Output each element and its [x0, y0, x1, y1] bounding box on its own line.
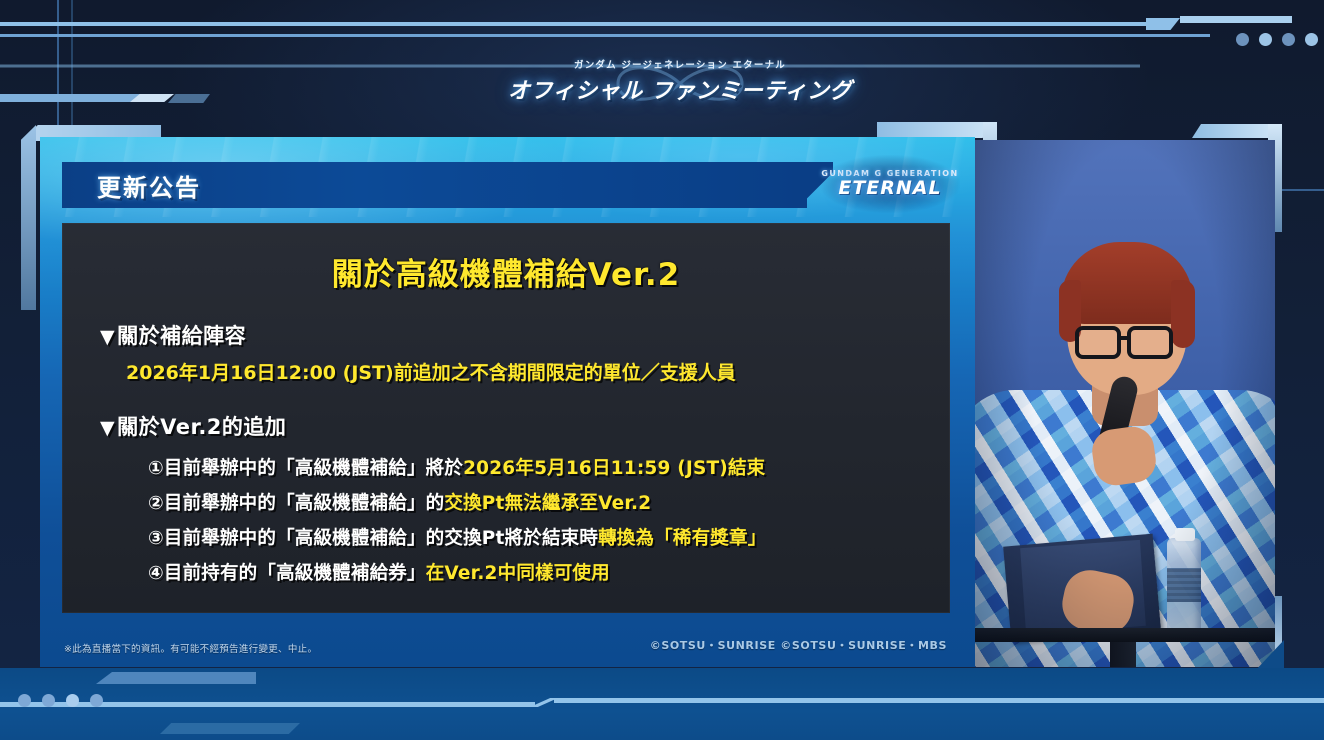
slide-copyright: ©SOTSU・SUNRISE ©SOTSU・SUNRISE・MBS	[650, 637, 947, 653]
section-1-body: 2026年1月16日12:00 (JST)前追加之不含期間限定的單位／支援人員	[100, 358, 950, 385]
broadcast-screen: ガンダム ジージェネレーション エターナル オフィシャル ファンミーティング 更…	[0, 0, 1324, 740]
slide-header-title: 更新公告	[97, 168, 201, 203]
triangle-marker-icon: ▼	[100, 417, 115, 439]
slide-panel: 更新公告 GUNDAM G GENERATION ETERNAL 關於高級機體補…	[40, 137, 975, 667]
list-item: ④目前持有的「高級機體補給券」在Ver.2中同樣可使用	[148, 556, 950, 591]
hud-bottom-dots	[18, 694, 103, 707]
item-number: ④	[148, 563, 164, 584]
card-title: 關於高級機體補給Ver.2	[62, 249, 950, 294]
presenter-video	[975, 140, 1275, 667]
item-highlight: 轉換為「稀有獎章」	[598, 528, 766, 549]
hud-dot	[66, 694, 79, 707]
section-2-heading-text: 關於Ver.2的追加	[117, 415, 286, 439]
hud-dot	[1259, 33, 1272, 46]
item-highlight: 交換Pt無法繼承至Ver.2	[444, 493, 651, 514]
section-supply-lineup: ▼關於補給陣容 2026年1月16日12:00 (JST)前追加之不含期間限定的…	[62, 320, 950, 385]
hud-dot	[1305, 33, 1318, 46]
water-bottle-label	[1167, 568, 1201, 602]
stage-table-leg	[1110, 642, 1136, 667]
presenter-hair-right	[1171, 280, 1195, 348]
bottom-left-bracket-2	[160, 723, 300, 734]
item-number: ①	[148, 458, 164, 479]
list-item: ①目前舉辦中的「高級機體補給」將於2026年5月16日11:59 (JST)結束	[148, 451, 950, 486]
hud-top-line-1	[0, 22, 1150, 26]
game-logo-title: ETERNAL	[838, 177, 941, 199]
event-logo-title: オフィシャル ファンミーティング	[508, 73, 852, 105]
slide-header-bar: 更新公告	[62, 162, 807, 208]
item-number: ③	[148, 528, 164, 549]
bottom-left-bracket-1	[96, 672, 256, 684]
event-logo-subtitle: ガンダム ジージェネレーション エターナル	[574, 57, 786, 71]
stage-table	[975, 628, 1275, 642]
hud-top-dots	[1236, 33, 1318, 46]
item-text: 目前持有的「高級機體補給券」	[164, 563, 426, 584]
item-text: 目前舉辦中的「高級機體補給」的	[164, 493, 445, 514]
section-2-heading: ▼關於Ver.2的追加	[100, 411, 950, 441]
section-1-heading: ▼關於補給陣容	[100, 320, 950, 350]
panel-corner-bracket-top-right	[877, 122, 997, 138]
triangle-marker-icon: ▼	[100, 326, 115, 348]
section-1-heading-text: 關於補給陣容	[117, 324, 246, 348]
bottom-line-right	[554, 698, 1324, 703]
slide-disclaimer: ※此為直播當下的資訊。有可能不經預告進行變更、中止。	[64, 641, 317, 655]
panel-corner-bracket-left	[21, 125, 36, 310]
item-text: 目前舉辦中的「高級機體補給」的交換Pt將於結束時	[164, 528, 598, 549]
hud-top-right-bar	[1180, 16, 1292, 23]
glasses-lens-left	[1075, 326, 1121, 359]
slide-surface: 更新公告 GUNDAM G GENERATION ETERNAL 關於高級機體補…	[40, 137, 975, 667]
item-number: ②	[148, 493, 164, 514]
hud-dot	[1236, 33, 1249, 46]
list-item: ②目前舉辦中的「高級機體補給」的交換Pt無法繼承至Ver.2	[148, 486, 950, 521]
water-bottle-cap	[1175, 528, 1195, 541]
content-card: 關於高級機體補給Ver.2 ▼關於補給陣容 2026年1月16日12:00 (J…	[62, 223, 950, 613]
game-logo-badge: GUNDAM G GENERATION ETERNAL	[820, 155, 960, 213]
section-2-list: ①目前舉辦中的「高級機體補給」將於2026年5月16日11:59 (JST)結束…	[100, 451, 950, 591]
glasses-bridge	[1120, 336, 1130, 340]
hud-dot	[18, 694, 31, 707]
section-ver2-additions: ▼關於Ver.2的追加 ①目前舉辦中的「高級機體補給」將於2026年5月16日1…	[62, 411, 950, 591]
item-text: 目前舉辦中的「高級機體補給」將於	[164, 458, 463, 479]
item-highlight: 2026年5月16日11:59 (JST)結束	[463, 458, 765, 479]
hud-top-line-2	[0, 34, 1210, 37]
event-logo: ガンダム ジージェネレーション エターナル オフィシャル ファンミーティング	[520, 48, 840, 114]
hud-dot	[1282, 33, 1295, 46]
item-highlight: 在Ver.2中同樣可使用	[426, 563, 610, 584]
hud-dot	[42, 694, 55, 707]
hud-dot	[90, 694, 103, 707]
list-item: ③目前舉辦中的「高級機體補給」的交換Pt將於結束時轉換為「稀有獎章」	[148, 521, 950, 556]
glasses-lens-right	[1127, 326, 1173, 359]
